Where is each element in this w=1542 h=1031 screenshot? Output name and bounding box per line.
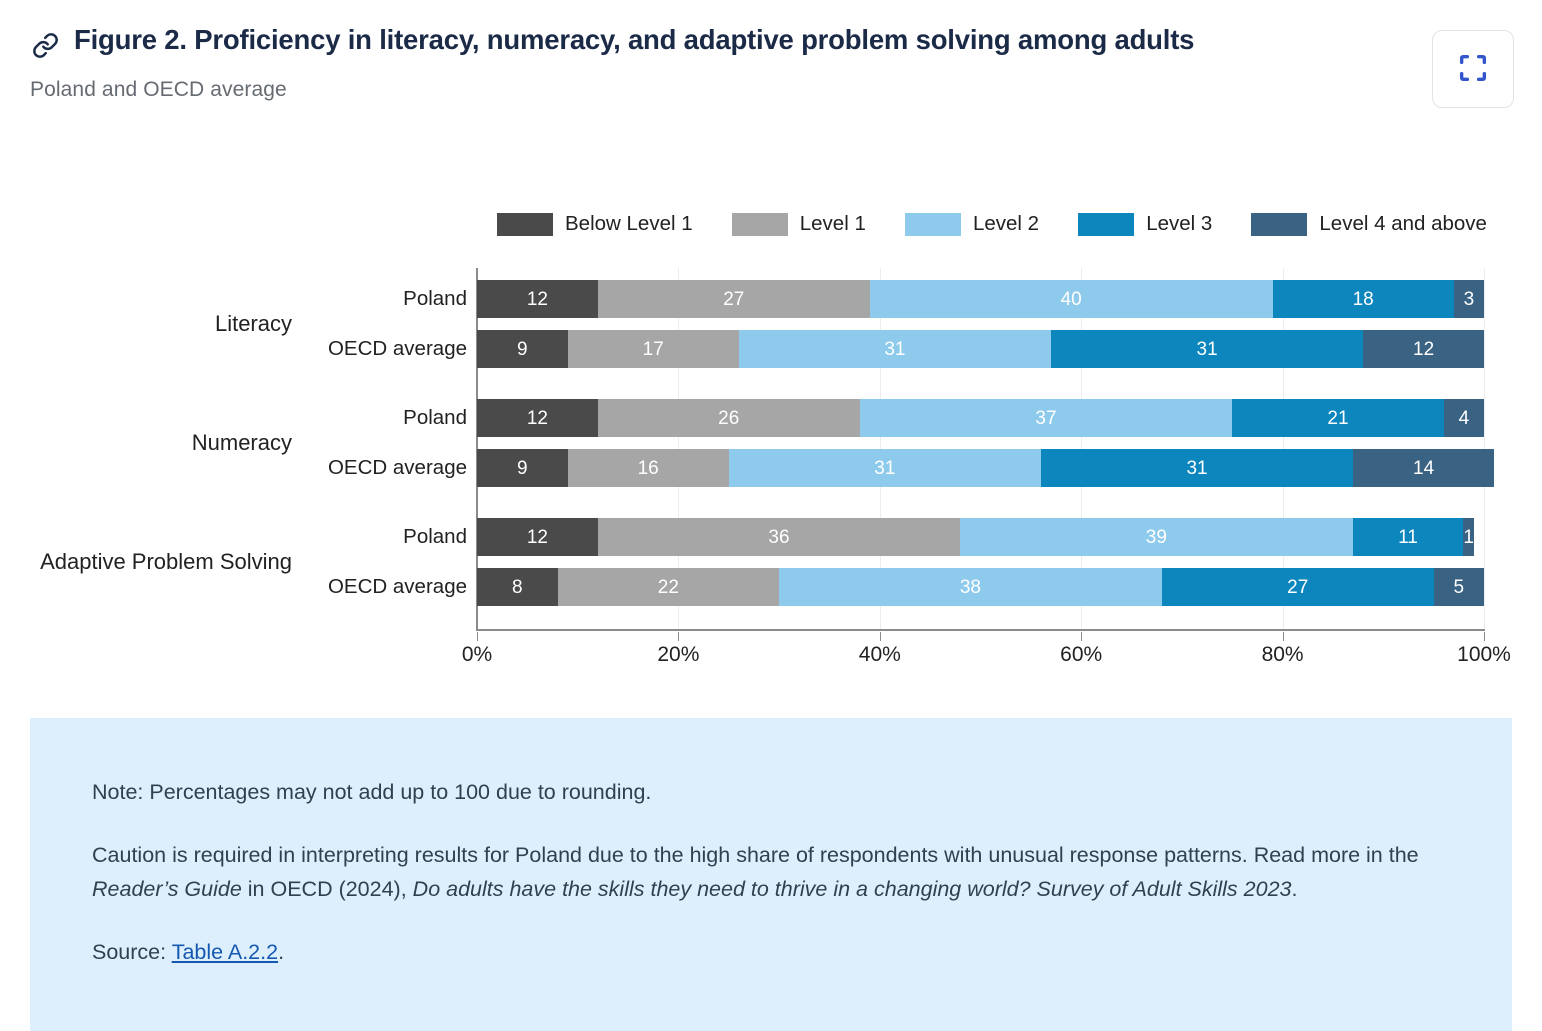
note-rounding: Note: Percentages may not add up to 100 …	[92, 776, 1450, 809]
bar-segment-value: 38	[960, 578, 981, 597]
bar-segment-value: 4	[1459, 409, 1470, 428]
legend-item[interactable]: Level 2	[905, 212, 1039, 236]
bar-segment-value: 26	[718, 409, 739, 428]
source-table-link[interactable]: Table A.2.2	[172, 940, 278, 964]
figure-header: Figure 2. Proficiency in literacy, numer…	[30, 22, 1422, 102]
bar-segment-value: 31	[1197, 340, 1218, 359]
bar-segment[interactable]: 40	[870, 280, 1273, 318]
bar-segment-value: 36	[768, 528, 789, 547]
bar-segment[interactable]: 21	[1232, 399, 1443, 437]
bar-row[interactable]: 123639111	[477, 518, 1474, 556]
x-tick-mark	[1081, 632, 1082, 641]
bar-segment[interactable]: 27	[598, 280, 870, 318]
bar-rows: 1227401839173131121226372149163131141236…	[477, 268, 1484, 630]
bar-segment[interactable]: 38	[779, 568, 1162, 606]
bar-segment[interactable]: 36	[598, 518, 960, 556]
bar-segment-value: 5	[1454, 578, 1465, 597]
bar-segment-value: 27	[723, 290, 744, 309]
bar-segment[interactable]: 16	[568, 449, 729, 487]
plot-area: 1227401839173131121226372149163131141236…	[477, 268, 1484, 630]
bar-row[interactable]: 917313112	[477, 330, 1484, 368]
bar-segment[interactable]: 26	[598, 399, 860, 437]
bar-segment[interactable]: 12	[477, 399, 598, 437]
bar-segment-value: 40	[1061, 290, 1082, 309]
bar-row[interactable]: 916313114	[477, 449, 1494, 487]
x-tick-label: 20%	[657, 643, 699, 667]
legend-item[interactable]: Level 3	[1078, 212, 1212, 236]
bar-segment-value: 27	[1287, 578, 1308, 597]
title-row: Figure 2. Proficiency in literacy, numer…	[30, 22, 1422, 62]
bar-segment-value: 16	[638, 459, 659, 478]
bar-segment-value: 18	[1353, 290, 1374, 309]
legend-swatch	[1078, 213, 1134, 236]
bar-segment[interactable]: 12	[1363, 330, 1484, 368]
bar-segment-value: 17	[643, 340, 664, 359]
chart-legend: Below Level 1Level 1Level 2Level 3Level …	[497, 212, 1487, 236]
bar-segment[interactable]: 5	[1434, 568, 1484, 606]
stacked-bar-chart: Below Level 1Level 1Level 2Level 3Level …	[0, 196, 1542, 676]
caution-italic-report-title: Do adults have the skills they need to t…	[413, 877, 1292, 901]
bar-segment[interactable]: 11	[1353, 518, 1464, 556]
bar-segment[interactable]: 8	[477, 568, 558, 606]
page-title: Figure 2. Proficiency in literacy, numer…	[74, 22, 1194, 59]
bar-segment[interactable]: 39	[960, 518, 1353, 556]
bar-segment-value: 31	[874, 459, 895, 478]
bar-row[interactable]: 122740183	[477, 280, 1484, 318]
bar-segment-value: 11	[1398, 528, 1418, 547]
legend-swatch	[905, 213, 961, 236]
y-axis-label: OECD average	[328, 337, 467, 361]
bar-segment[interactable]: 4	[1444, 399, 1484, 437]
category-label: Literacy	[215, 311, 292, 337]
legend-label: Below Level 1	[565, 212, 693, 236]
caution-mid: in OECD (2024),	[242, 877, 413, 901]
source-prefix: Source:	[92, 940, 172, 964]
bar-segment[interactable]: 9	[477, 330, 568, 368]
bar-segment[interactable]: 3	[1454, 280, 1484, 318]
source-suffix: .	[278, 940, 284, 964]
x-tick-mark	[1283, 632, 1284, 641]
bar-segment-value: 22	[658, 578, 679, 597]
legend-item[interactable]: Level 1	[732, 212, 866, 236]
bar-segment-value: 8	[512, 578, 523, 597]
x-tick-mark	[880, 632, 881, 641]
bar-segment-value: 21	[1327, 409, 1348, 428]
bar-segment[interactable]: 27	[1162, 568, 1434, 606]
legend-label: Level 2	[973, 212, 1039, 236]
bar-segment[interactable]: 31	[739, 330, 1051, 368]
legend-swatch	[732, 213, 788, 236]
bar-segment-value: 31	[1186, 459, 1207, 478]
x-tick-label: 60%	[1060, 643, 1102, 667]
bar-row[interactable]: 82238275	[477, 568, 1484, 606]
legend-label: Level 3	[1146, 212, 1212, 236]
expand-fullscreen-button[interactable]	[1432, 30, 1514, 108]
bar-segment-value: 37	[1035, 409, 1056, 428]
category-label: Numeracy	[192, 430, 292, 456]
legend-item[interactable]: Below Level 1	[497, 212, 693, 236]
caution-end: .	[1291, 877, 1297, 901]
x-tick-mark	[1484, 632, 1485, 641]
y-axis-label: Poland	[403, 525, 467, 549]
bar-segment[interactable]: 31	[1051, 330, 1363, 368]
x-tick-label: 100%	[1457, 643, 1511, 667]
x-axis-ticks: 0%20%40%60%80%100%	[477, 632, 1484, 672]
legend-swatch	[497, 213, 553, 236]
legend-item[interactable]: Level 4 and above	[1251, 212, 1487, 236]
link-icon[interactable]	[30, 28, 60, 62]
bar-segment[interactable]: 12	[477, 518, 598, 556]
y-axis-label: Poland	[403, 406, 467, 430]
bar-segment[interactable]: 17	[568, 330, 739, 368]
bar-segment-value: 12	[527, 528, 548, 547]
bar-segment-value: 12	[1413, 340, 1434, 359]
bar-segment-value: 31	[884, 340, 905, 359]
legend-label: Level 1	[800, 212, 866, 236]
bar-segment-value: 9	[517, 459, 528, 478]
bar-segment[interactable]: 12	[477, 280, 598, 318]
bar-segment[interactable]: 37	[860, 399, 1233, 437]
caution-italic-readers-guide: Reader’s Guide	[92, 877, 242, 901]
x-tick-mark	[477, 632, 478, 641]
y-axis-label: OECD average	[328, 456, 467, 480]
bar-segment-value: 39	[1146, 528, 1167, 547]
fullscreen-expand-icon	[1456, 51, 1490, 88]
bar-segment-value: 3	[1464, 290, 1475, 309]
bar-segment-value: 12	[527, 409, 548, 428]
note-caution: Caution is required in interpreting resu…	[92, 839, 1450, 906]
bar-segment-value: 14	[1413, 459, 1434, 478]
bar-segment-value: 1	[1463, 528, 1474, 547]
bar-segment[interactable]: 14	[1353, 449, 1494, 487]
x-tick-label: 0%	[462, 643, 492, 667]
figure-panel: Figure 2. Proficiency in literacy, numer…	[0, 0, 1542, 1031]
caution-pre: Caution is required in interpreting resu…	[92, 843, 1419, 867]
bar-segment[interactable]: 1	[1463, 518, 1474, 556]
category-label: Adaptive Problem Solving	[40, 549, 292, 575]
bar-segment[interactable]: 31	[729, 449, 1041, 487]
bar-segment[interactable]: 18	[1273, 280, 1454, 318]
bar-segment-value: 9	[517, 340, 528, 359]
legend-label: Level 4 and above	[1319, 212, 1487, 236]
x-tick-label: 80%	[1262, 643, 1304, 667]
bar-row[interactable]: 122637214	[477, 399, 1484, 437]
figure-subtitle: Poland and OECD average	[30, 78, 1422, 102]
bar-segment-value: 12	[527, 290, 548, 309]
note-source: Source: Table A.2.2.	[92, 936, 1450, 969]
bar-segment[interactable]: 9	[477, 449, 568, 487]
y-axis-label: Poland	[403, 287, 467, 311]
bar-segment[interactable]: 22	[558, 568, 780, 606]
x-tick-label: 40%	[859, 643, 901, 667]
bar-segment[interactable]: 31	[1041, 449, 1353, 487]
legend-swatch	[1251, 213, 1307, 236]
y-axis-label: OECD average	[328, 575, 467, 599]
x-tick-mark	[678, 632, 679, 641]
note-box: Note: Percentages may not add up to 100 …	[30, 718, 1512, 1031]
